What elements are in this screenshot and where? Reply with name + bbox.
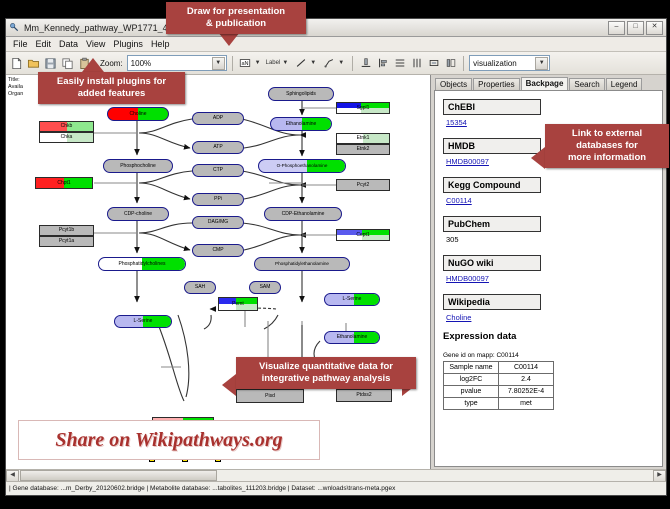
- menu-bar: File Edit Data View Plugins Help: [6, 37, 666, 52]
- menu-item-file[interactable]: File: [9, 39, 32, 49]
- zoom-value: 100%: [131, 59, 151, 68]
- callout-links-arrow-icon: [531, 147, 545, 169]
- db-link-wikipedia[interactable]: Choline: [446, 313, 662, 322]
- meta-organism: Organ: [8, 91, 23, 98]
- screenshot-root: Mm_Kennedy_pathway_WP1771_45176.gpml – □…: [0, 0, 670, 509]
- gene-cept1[interactable]: Cept1: [336, 229, 390, 241]
- zoom-combobox[interactable]: 100% ▼: [127, 55, 227, 71]
- cofactor-cmp[interactable]: CMP: [192, 244, 244, 257]
- expression-data-header: Expression data: [443, 331, 662, 342]
- metabolite-l-serine-right[interactable]: L-Serine: [324, 293, 380, 306]
- callout-links: Link to external databases for more info…: [545, 124, 669, 168]
- callout-links-line2: databases for: [552, 140, 662, 152]
- metabolite-o-phosphoethanolamine[interactable]: O-Phosphoethanolamine: [258, 159, 346, 173]
- metabolite-cdp-ethanolamine[interactable]: CDP-Ethanolamine: [264, 207, 342, 221]
- meta-title: Title:: [8, 77, 23, 84]
- cell-sample-name-value: C00114: [499, 362, 554, 374]
- chevron-down-icon[interactable]: ▼: [535, 57, 548, 70]
- db-link-kegg[interactable]: C00114: [446, 196, 662, 205]
- db-section-chebi: ChEBI 15354: [443, 97, 662, 127]
- db-header-hmdb: HMDB: [443, 138, 541, 154]
- metabolite-phosphocholine[interactable]: Phosphocholine: [103, 159, 173, 173]
- window-controls: – □ ✕: [608, 21, 663, 35]
- interaction-icon[interactable]: [321, 56, 336, 71]
- cofactor-adp[interactable]: ADP: [192, 112, 244, 125]
- line-icon[interactable]: [293, 56, 308, 71]
- cell-log2fc-value: 2.4: [499, 374, 554, 386]
- status-bar: | Gene database: ...m_Derby_20120602.bri…: [6, 481, 666, 495]
- gene-etnk1[interactable]: Etnk1: [336, 133, 390, 144]
- table-row: log2FC 2.4: [444, 374, 554, 386]
- distribute-horizontal-icon[interactable]: [409, 56, 424, 71]
- callout-draw-arrow-icon: [218, 32, 240, 46]
- db-section-pubchem: PubChem 305: [443, 214, 662, 244]
- metabolite-l-serine-left[interactable]: L-Serine: [114, 315, 172, 328]
- callout-share: Share on Wikipathways.org: [18, 420, 320, 460]
- chevron-down-icon[interactable]: ▼: [282, 60, 288, 66]
- save-icon[interactable]: [43, 56, 58, 71]
- menu-item-help[interactable]: Help: [147, 39, 174, 49]
- distribute-vertical-icon[interactable]: [392, 56, 407, 71]
- cofactor-atp[interactable]: ATP: [192, 141, 244, 154]
- gene-chpt1[interactable]: Chpt1: [35, 177, 93, 189]
- toolbar-separator: [232, 56, 233, 71]
- callout-links-line1: Link to external: [552, 128, 662, 140]
- metabolite-sphingolipids[interactable]: Sphingolipids: [268, 87, 334, 101]
- scroll-thumb[interactable]: [20, 470, 217, 481]
- cofactor-ctp[interactable]: CTP: [192, 164, 244, 177]
- menu-item-edit[interactable]: Edit: [32, 39, 56, 49]
- db-header-pubchem: PubChem: [443, 216, 541, 232]
- tab-legend[interactable]: Legend: [606, 78, 643, 90]
- callout-plugins: Easily install plugins for added feature…: [38, 72, 185, 104]
- align-bottom-icon[interactable]: [358, 56, 373, 71]
- gene-id-line: Gene id on mapp: C00114: [443, 352, 662, 359]
- maximize-button[interactable]: □: [627, 21, 644, 35]
- db-header-nugo: NuGO wiki: [443, 255, 541, 271]
- callout-plugins-arrow-icon: [82, 58, 104, 72]
- callout-links-line3: more information: [552, 152, 662, 164]
- scroll-left-icon[interactable]: ◀: [6, 470, 19, 482]
- callout-share-text: Share on Wikipathways.org: [55, 429, 282, 452]
- side-panel-tabs: Objects Properties Backpage Search Legen…: [431, 75, 666, 90]
- db-value-pubchem: 305: [446, 235, 662, 244]
- gene-etnk2[interactable]: Etnk2: [336, 144, 390, 155]
- metabolite-cdp-choline[interactable]: CDP-choline: [107, 207, 169, 221]
- status-text: | Gene database: ...m_Derby_20120602.bri…: [9, 485, 395, 492]
- cell-type-value: met: [499, 398, 554, 410]
- metabolite-choline[interactable]: Choline: [107, 107, 169, 121]
- label-tool[interactable]: Label: [266, 60, 281, 66]
- chevron-down-icon[interactable]: ▼: [310, 60, 316, 66]
- stack-icon[interactable]: [443, 56, 458, 71]
- pathway-canvas[interactable]: Title: Availa Organ: [6, 75, 431, 469]
- align-left-icon[interactable]: [375, 56, 390, 71]
- horizontal-scrollbar[interactable]: ◀ ▶: [6, 469, 666, 481]
- meta-availability: Availa: [8, 84, 23, 91]
- db-header-wikipedia: Wikipedia: [443, 294, 541, 310]
- toolbar-separator: [463, 56, 464, 71]
- gene-chka[interactable]: Chka: [39, 132, 94, 143]
- metabolite-sah[interactable]: SAH: [184, 281, 216, 294]
- title-bar: Mm_Kennedy_pathway_WP1771_45176.gpml – □…: [6, 19, 666, 37]
- cell-sample-name-label: Sample name: [444, 362, 499, 374]
- gene-ptdss2[interactable]: Ptdss2: [336, 389, 392, 402]
- gene-chkb[interactable]: Chkb: [39, 121, 94, 132]
- menu-item-plugins[interactable]: Plugins: [109, 39, 147, 49]
- callout-plugins-line1: Easily install plugins for: [45, 76, 178, 88]
- cofactor-dag-mg[interactable]: DAG/MG: [192, 216, 244, 229]
- metabolite-sam[interactable]: SAM: [249, 281, 281, 294]
- metabolite-phosphatidylethanolamine[interactable]: Phosphatidylethanolamine: [254, 257, 350, 271]
- table-row: pvalue 7.80252E-4: [444, 386, 554, 398]
- table-row: Sample name C00114: [444, 362, 554, 374]
- toolbar-separator: [352, 56, 353, 71]
- chevron-down-icon[interactable]: ▼: [212, 57, 225, 70]
- minimize-button[interactable]: –: [608, 21, 625, 35]
- db-section-kegg: Kegg Compound C00114: [443, 175, 662, 205]
- pathvisio-icon: [9, 22, 20, 33]
- svg-text:aN: aN: [242, 61, 249, 67]
- db-header-kegg: Kegg Compound: [443, 177, 541, 193]
- callout-visualize: Visualize quantitative data for integrat…: [236, 357, 416, 389]
- window-title: Mm_Kennedy_pathway_WP1771_45176.gpml: [24, 23, 608, 33]
- metabolite-ethanolamine-bottom[interactable]: Ethanolamine: [324, 331, 380, 344]
- callout-plugins-line2: added features: [45, 88, 178, 100]
- callout-draw: Draw for presentation & publication: [166, 2, 306, 34]
- visualization-combobox[interactable]: visualization ▼: [469, 55, 550, 71]
- callout-visualize-arrow-left-icon: [222, 374, 236, 396]
- metabolite-phosphatidylcholines[interactable]: Phosphatidylcholines: [98, 257, 186, 271]
- chevron-down-icon[interactable]: ▼: [338, 60, 344, 66]
- tab-objects[interactable]: Objects: [435, 78, 472, 90]
- scroll-right-icon[interactable]: ▶: [653, 470, 666, 482]
- gene-pisd[interactable]: Pisd: [236, 389, 304, 403]
- db-header-chebi: ChEBI: [443, 99, 541, 115]
- canvas-meta: Title: Availa Organ: [8, 77, 23, 98]
- cell-pvalue-value: 7.80252E-4: [499, 386, 554, 398]
- chevron-down-icon[interactable]: ▼: [255, 60, 261, 66]
- new-file-icon[interactable]: [9, 56, 24, 71]
- menu-item-data[interactable]: Data: [55, 39, 82, 49]
- tab-properties[interactable]: Properties: [473, 78, 519, 90]
- callout-draw-line2: & publication: [173, 18, 299, 30]
- gene-sgpl1[interactable]: Sgpl1: [336, 102, 390, 114]
- cell-type-label: type: [444, 398, 499, 410]
- callout-draw-line1: Draw for presentation: [173, 6, 299, 18]
- cell-log2fc-label: log2FC: [444, 374, 499, 386]
- cell-pvalue-label: pvalue: [444, 386, 499, 398]
- expression-table: Sample name C00114 log2FC 2.4 pvalue 7.8…: [443, 361, 554, 410]
- open-folder-icon[interactable]: [26, 56, 41, 71]
- table-row: type met: [444, 398, 554, 410]
- menu-item-view[interactable]: View: [82, 39, 109, 49]
- gene-pcyt2[interactable]: Pcyt2: [336, 179, 390, 191]
- close-button[interactable]: ✕: [646, 21, 663, 35]
- db-link-nugo[interactable]: HMDB00097: [446, 274, 662, 283]
- cofactor-ppi[interactable]: PPi: [192, 193, 244, 206]
- gene-pcyt1b[interactable]: Pcyt1b: [39, 225, 94, 236]
- gene-pcyt1a[interactable]: Pcyt1a: [39, 236, 94, 247]
- copy-icon[interactable]: [60, 56, 75, 71]
- data-node-icon[interactable]: aN: [238, 56, 253, 71]
- metabolite-ethanolamine[interactable]: Ethanolamine: [270, 117, 332, 131]
- tab-backpage[interactable]: Backpage: [521, 77, 569, 90]
- tab-search[interactable]: Search: [569, 78, 604, 90]
- gene-pemt[interactable]: Pemt: [218, 297, 258, 311]
- db-section-wikipedia: Wikipedia Choline: [443, 292, 662, 322]
- callout-visualize-line1: Visualize quantitative data for: [243, 361, 409, 373]
- db-section-nugo: NuGO wiki HMDB00097: [443, 253, 662, 283]
- callout-visualize-line2: integrative pathway analysis: [243, 373, 409, 385]
- visualization-value: visualization: [473, 59, 517, 68]
- group-icon[interactable]: [426, 56, 441, 71]
